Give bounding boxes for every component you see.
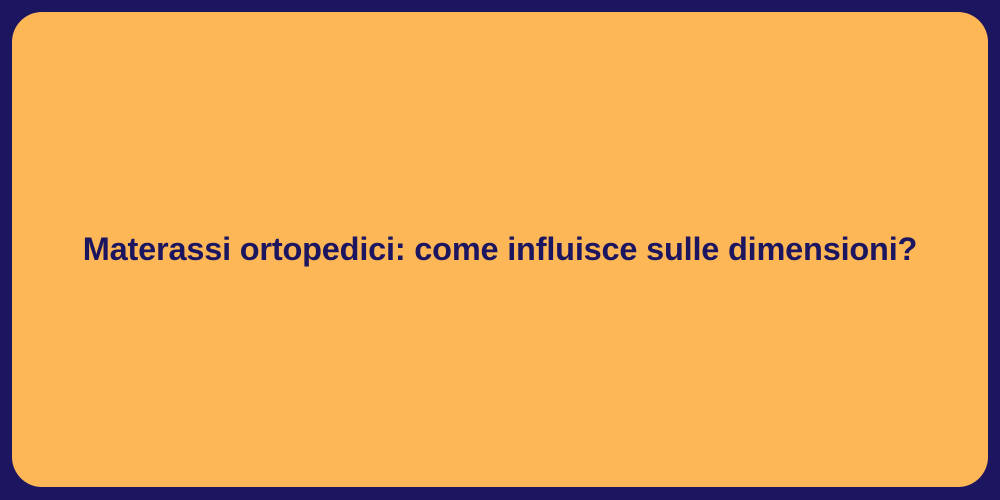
banner-frame: Materassi ortopedici: come influisce sul…: [0, 0, 1000, 500]
banner-card-panel: Materassi ortopedici: come influisce sul…: [12, 12, 988, 487]
banner-title: Materassi ortopedici: come influisce sul…: [43, 230, 957, 269]
